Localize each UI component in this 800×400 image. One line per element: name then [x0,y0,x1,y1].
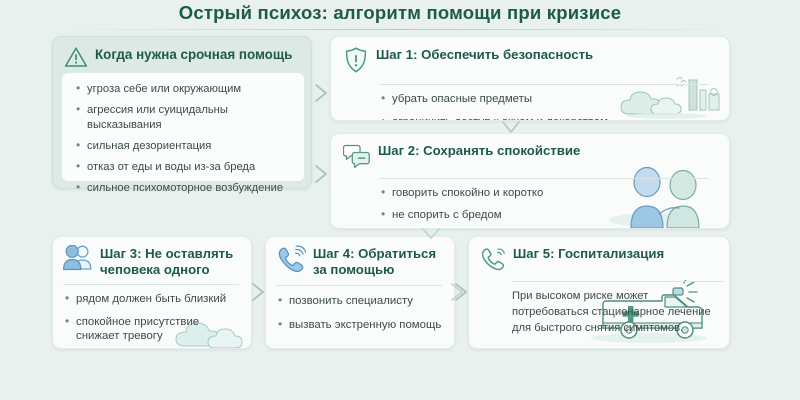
warning-list: угроза себе или окружающим агрессия или … [74,82,294,195]
warning-panel: Когда нужна срочная помощь угроза себе и… [52,36,312,189]
step-1-list: убрать опасные предметы ограничить досту… [379,92,715,121]
list-item: отказ от еды и воды из-за бреда [74,160,294,175]
warning-panel-header: Когда нужна срочная помощь [53,37,311,73]
list-item: сильная дезориентация [74,139,294,154]
step-3-panel: Шаг 3: Не оставлять чеповека одного рядо… [52,236,252,349]
step-2-list: говорить спокойно и коротко не спорить с… [379,186,715,229]
arrow-warning-to-step2 [312,163,332,190]
step-5-paragraph: При высоком риске может потребоваться ст… [512,289,717,337]
step-5-divider [512,281,724,282]
step-3-divider [63,284,239,285]
list-item: спокойное присутствие снижает тревогу [63,315,241,345]
list-item: агрессия или суицидальны высказывания [74,103,294,132]
list-item: угроза себе или окружающим [74,82,294,97]
list-item: не спорить с бредом [379,208,715,223]
step-5-panel: Шаг 5: Госпитализация При высоком риске … [468,236,730,349]
list-item: сильное психомоторное возбуждение [74,181,294,196]
shield-exclamation-icon [343,46,369,79]
step-1-heading: Шаг 1: Обеспечить безопасность [376,46,593,63]
list-item: вызвать экстренную помощь [276,318,444,333]
phone-ring-icon [480,245,506,276]
list-item: рядом должен быть близкий [63,292,241,307]
step-1-panel: Шаг 1: Обеспечить безопасность убрать оп… [330,36,730,121]
step-2-divider [379,178,709,179]
page-title: Острый психоз: алгоритм помощи при кризи… [0,2,800,24]
list-item: убрать опасные предметы [379,92,715,107]
step-5-heading: Шаг 5: Госпитализация [513,245,664,262]
step-4-list: позвонить специалисту вызвать экстренную… [276,294,444,333]
list-item: позвонить специалисту [276,294,444,309]
step-2-heading: Шаг 2: Сохранять спокойствие [378,142,580,159]
step-4-panel: Шаг 4: Обратиться за помощью позвонить с… [265,236,455,349]
warning-list-box: угроза себе или окружающим агрессия или … [62,73,304,181]
step-3-heading: Шаг 3: Не оставлять чеповека одного [100,245,241,279]
list-item: говорить спокойно и коротко [379,186,715,201]
step-2-panel: Шаг 2: Сохранять спокойствие говорить сп… [330,133,730,229]
step-4-divider [276,285,442,286]
step-1-divider [379,84,709,85]
title-divider [55,29,745,30]
step-3-list: рядом должен быть близкий спокойное прис… [63,292,241,344]
phone-signal-icon [276,245,306,278]
warning-panel-heading: Когда нужна срочная помощь [95,46,292,64]
step-4-heading: Шаг 4: Обратиться за помощью [313,245,444,279]
infographic-canvas: Острый психоз: алгоритм помощи при кризи… [0,0,800,400]
list-item: ограничить доступ к окнам и лекарствам [379,115,715,121]
two-persons-icon [63,245,93,276]
speech-bubbles-icon [343,142,371,173]
warning-triangle-icon [64,46,88,73]
arrow-warning-to-step1 [312,82,332,109]
